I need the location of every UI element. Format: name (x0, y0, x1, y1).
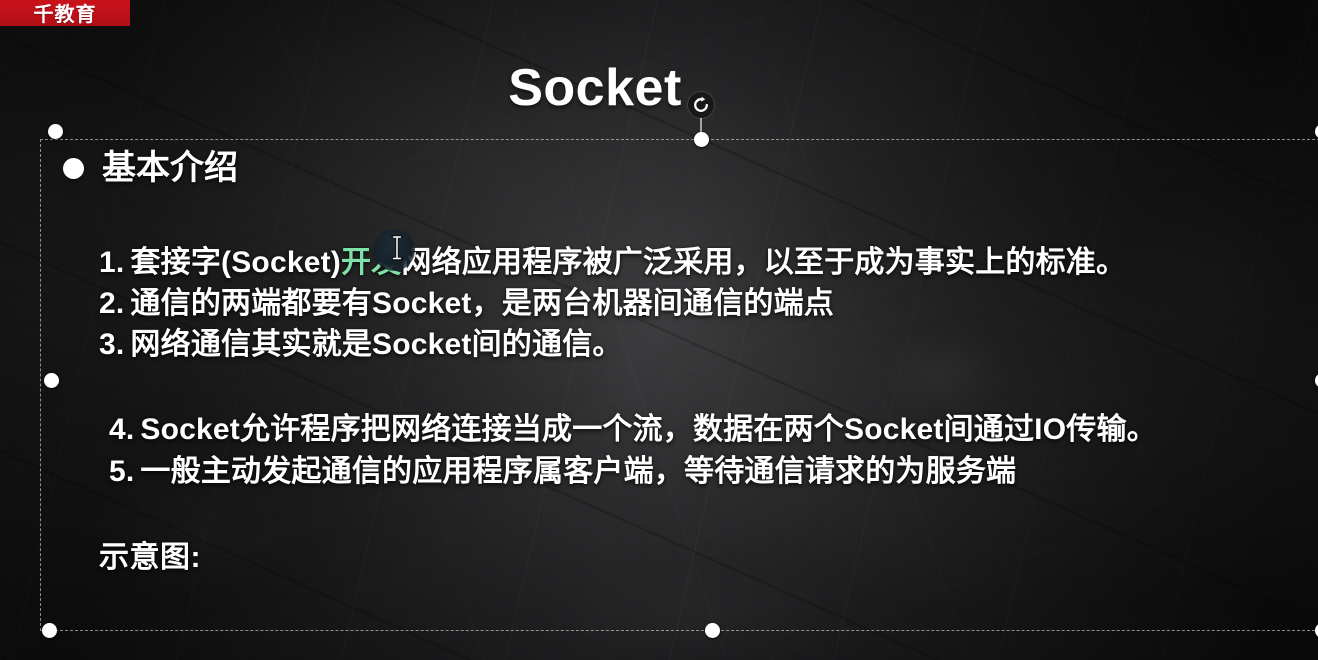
list-item-text-after: 网络应用程序被广泛采用，以至于成为事实上的标准。 (401, 246, 1126, 279)
list-item-number: 1. (99, 246, 124, 279)
resize-handle-middle-left[interactable] (44, 373, 59, 388)
resize-handle-top-right[interactable] (1315, 124, 1318, 139)
list-item: 4.Socket允许程序把网络连接当成一个流，数据在两个Socket间通过IO传… (109, 414, 1157, 446)
list-item-text: Socket允许程序把网络连接当成一个流，数据在两个Socket间通过IO传输。 (140, 413, 1156, 446)
list-item-number: 4. (109, 413, 134, 446)
presentation-slide: 千教育 Socket 基本介绍 1.套接字(Socket)开发网络应用程序被广泛… (0, 0, 1318, 660)
body-text-placeholder[interactable]: 基本介绍 1.套接字(Socket)开发网络应用程序被广泛采用，以至于成为事实上… (40, 139, 1318, 631)
list-item-text: 网络通信其实就是Socket间的通信。 (130, 328, 622, 361)
list-item-number: 5. (109, 455, 134, 488)
list-item-number: 3. (99, 328, 124, 361)
resize-handle-top-left[interactable] (48, 124, 63, 139)
list-item: 3.网络通信其实就是Socket间的通信。 (99, 329, 623, 361)
resize-handle-bottom-center[interactable] (705, 623, 720, 638)
list-item: 1.套接字(Socket)开发网络应用程序被广泛采用，以至于成为事实上的标准。 (99, 247, 1126, 279)
list-item-text: 通信的两端都要有Socket，是两台机器间通信的端点 (130, 287, 834, 320)
resize-handle-top-center[interactable] (694, 132, 709, 147)
list-item-number: 2. (99, 287, 124, 320)
slide-title: Socket (0, 62, 1190, 114)
diagram-label: 示意图: (99, 532, 201, 576)
bullet-dot-icon (63, 158, 84, 179)
watermark-logo: 千教育 (0, 0, 130, 26)
section-heading-label: 基本介绍 (102, 150, 238, 187)
list-item-text-tinted: 开发 (341, 246, 401, 279)
watermark-logo-text: 千教育 (34, 5, 97, 25)
section-heading: 基本介绍 (63, 150, 238, 187)
rotate-icon[interactable] (688, 92, 714, 118)
body-text-content: 基本介绍 1.套接字(Socket)开发网络应用程序被广泛采用，以至于成为事实上… (41, 140, 1318, 630)
list-item: 5.一般主动发起通信的应用程序属客户端，等待通信请求的为服务端 (109, 456, 1016, 488)
list-item-text-before: 套接字(Socket) (130, 246, 341, 279)
list-item-text: 一般主动发起通信的应用程序属客户端，等待通信请求的为服务端 (140, 455, 1016, 488)
resize-handle-bottom-left[interactable] (42, 623, 57, 638)
list-item: 2.通信的两端都要有Socket，是两台机器间通信的端点 (99, 288, 834, 320)
